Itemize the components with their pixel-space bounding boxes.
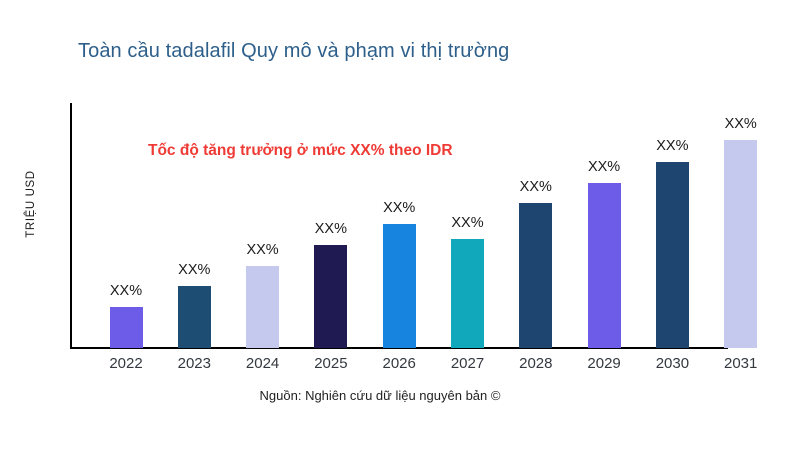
bar-2025: [314, 245, 347, 348]
bar-2024: [246, 266, 279, 348]
x-tick-label-2030: 2030: [640, 355, 704, 372]
bar-2023: [178, 286, 211, 348]
bar-2027: [451, 239, 484, 348]
plot-area: XX%2022XX%2023XX%2024XX%2025XX%2026XX%20…: [0, 0, 800, 450]
bar-value-label-2023: XX%: [162, 262, 226, 278]
bar-value-label-2022: XX%: [94, 283, 158, 299]
x-tick-label-2029: 2029: [572, 355, 636, 372]
x-tick-label-2031: 2031: [709, 355, 773, 372]
x-tick-label-2026: 2026: [367, 355, 431, 372]
x-tick-label-2024: 2024: [231, 355, 295, 372]
bar-value-label-2028: XX%: [504, 179, 568, 195]
bar-value-label-2030: XX%: [640, 138, 704, 154]
x-tick-label-2028: 2028: [504, 355, 568, 372]
bar-2026: [383, 224, 416, 348]
bar-value-label-2026: XX%: [367, 200, 431, 216]
x-tick-label-2025: 2025: [299, 355, 363, 372]
bar-2022: [110, 307, 143, 348]
bar-value-label-2031: XX%: [709, 116, 773, 132]
x-tick-label-2023: 2023: [162, 355, 226, 372]
bar-2030: [656, 162, 689, 348]
bar-2029: [588, 183, 621, 348]
source-note: Nguồn: Nghiên cứu dữ liệu nguyên bản ©: [0, 388, 760, 403]
chart-container: Toàn cầu tadalafil Quy mô và phạm vi thị…: [0, 0, 800, 450]
bar-value-label-2024: XX%: [231, 242, 295, 258]
bar-2031: [724, 140, 757, 348]
x-tick-label-2027: 2027: [436, 355, 500, 372]
bar-value-label-2029: XX%: [572, 159, 636, 175]
bar-value-label-2025: XX%: [299, 221, 363, 237]
bar-2028: [519, 203, 552, 348]
bar-value-label-2027: XX%: [436, 215, 500, 231]
x-tick-label-2022: 2022: [94, 355, 158, 372]
